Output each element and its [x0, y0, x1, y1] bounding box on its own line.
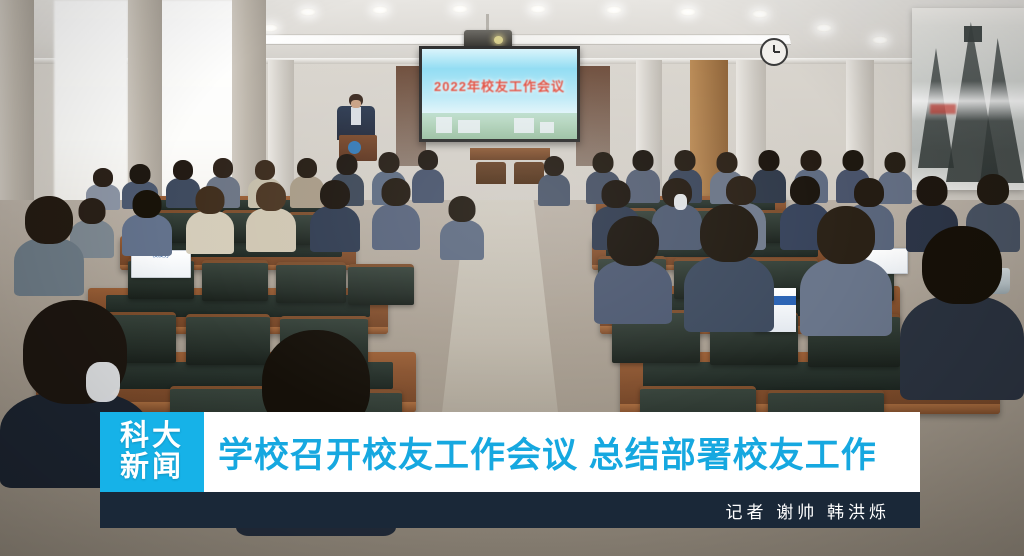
ceiling-light-band: [249, 34, 791, 45]
face-mask: [86, 362, 120, 402]
projection-screen: 2022年校友工作会议: [419, 46, 580, 142]
downlight-icon: [872, 36, 888, 44]
painting-mist: [912, 81, 1024, 121]
painting-seal: [930, 104, 956, 114]
broadcast-frame: 2022年校友工作会议 校友办: [0, 0, 1024, 556]
attendee: [800, 206, 892, 332]
attendee-foreground: [900, 226, 1024, 396]
attendee: [122, 190, 172, 252]
seat-back: [276, 262, 346, 303]
channel-logo-line1: 科大: [120, 421, 184, 452]
reporter-credit: 记者 谢帅 韩洪烁: [100, 492, 920, 528]
slide-title: 2022年校友工作会议: [422, 76, 577, 95]
attendee: [440, 196, 484, 256]
podium-emblem: [348, 141, 361, 154]
attendee: [684, 204, 774, 328]
downlight-icon: [752, 10, 768, 18]
speaker-shirt: [351, 107, 361, 125]
lower-third-main-row: 科大 新闻 学校召开校友工作会议 总结部署校友工作: [100, 412, 920, 492]
downlight-icon: [530, 5, 546, 13]
wall-panel: [576, 66, 610, 166]
attendee: [246, 182, 296, 248]
downlight-icon: [816, 24, 832, 32]
projection-screen-surface: 2022年校友工作会议: [422, 49, 577, 139]
downlight-icon: [372, 6, 388, 14]
slide-building: [514, 118, 534, 133]
head-chair: [476, 162, 506, 184]
channel-logo: 科大 新闻: [100, 412, 204, 492]
lower-third-graphic: 科大 新闻 学校召开校友工作会议 总结部署校友工作 记者 谢帅 韩洪烁: [100, 412, 920, 528]
slide-building: [458, 120, 480, 133]
attendee: [186, 186, 234, 250]
seat-back: [348, 264, 414, 305]
wall-clock-icon: [760, 38, 788, 66]
wall-painting: [912, 8, 1024, 190]
downlight-icon: [680, 8, 696, 16]
speaker-face: [351, 100, 361, 108]
news-headline: 学校召开校友工作会议 总结部署校友工作: [204, 412, 920, 492]
downlight-icon: [300, 8, 316, 16]
channel-logo-line2: 新闻: [120, 452, 184, 483]
painting-great-wall: [964, 26, 982, 42]
seat-back: [202, 260, 268, 301]
attendee: [14, 196, 84, 292]
attendee: [594, 216, 672, 320]
attendee: [372, 178, 420, 246]
downlight-icon: [452, 5, 468, 13]
downlight-icon: [606, 6, 622, 14]
attendee: [538, 156, 570, 204]
slide-building: [540, 122, 554, 133]
attendee: [310, 180, 360, 248]
slide-building: [436, 117, 452, 133]
